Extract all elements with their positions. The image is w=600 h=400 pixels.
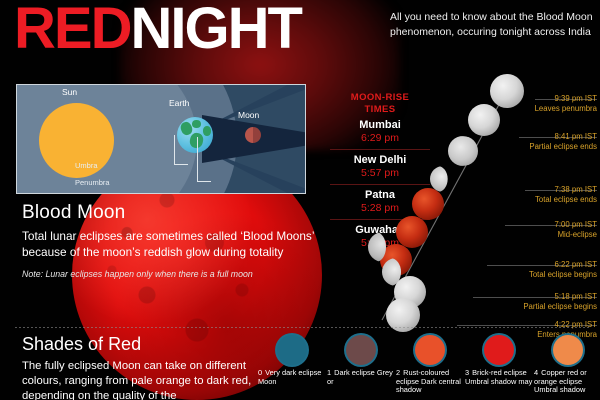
shade-moon-icon — [277, 335, 307, 365]
timeline-event: 8:41 pm ISTPartial eclipse ends — [437, 132, 597, 152]
subtitle: All you need to know about the Blood Moo… — [390, 10, 595, 39]
timeline-event-desc: Partial eclipse begins — [437, 302, 597, 312]
blood-moon-note: Note: Lunar eclipses happen only when th… — [22, 269, 322, 279]
timeline-event: 7:38 pm ISTTotal eclipse ends — [437, 185, 597, 205]
header: REDNIGHT All you need to know about the … — [0, 0, 600, 62]
blood-moon-body: Total lunar eclipses are sometimes calle… — [22, 229, 322, 260]
shades-body: The fully eclipsed Moon can take on diff… — [22, 359, 272, 400]
timeline-event: 9:39 pm ISTLeaves penumbra — [437, 94, 597, 114]
penumbra-leader-line — [197, 137, 211, 182]
penumbra-label: Penumbra — [75, 178, 110, 187]
timeline-event: 7:00 pm ISTMid-eclipse — [437, 220, 597, 240]
shade-text: Rust-coloured eclipse Dark central shado… — [396, 368, 461, 394]
shades-swatch-row: 0Very dark eclipse Moon1Dark eclipse Gre… — [258, 335, 600, 400]
shade-caption: 4Copper red or orange eclipse Umbral sha… — [534, 369, 600, 395]
section-divider — [14, 327, 589, 328]
timeline-event-time: 7:00 pm IST — [437, 220, 597, 230]
shades-heading: Shades of Red — [22, 334, 272, 355]
timeline-event-time: 7:38 pm IST — [437, 185, 597, 195]
timeline-event-desc: Partial eclipse ends — [437, 142, 597, 152]
eclipse-progression-timeline: 9:39 pm ISTLeaves penumbra8:41 pm ISTPar… — [360, 80, 600, 330]
eclipse-phase-moon — [396, 216, 428, 248]
shades-of-red-section: Shades of Red The fully eclipsed Moon ca… — [22, 334, 272, 400]
shade-text: Dark eclipse Grey or — [327, 368, 393, 386]
blood-moon-section: Blood Moon Total lunar eclipses are some… — [22, 202, 322, 279]
shade-caption: 1Dark eclipse Grey or — [327, 369, 395, 386]
shade-caption: 3Brick-red eclipse Umbral shadow may — [465, 369, 533, 386]
umbra-leader-line — [174, 135, 188, 165]
timeline-event-time: 5:18 pm IST — [437, 292, 597, 302]
shade-text: Brick-red eclipse Umbral shadow may — [465, 368, 532, 386]
title-word-night: NIGHT — [130, 0, 300, 61]
timeline-event-time: 4:22 pm IST — [437, 320, 597, 330]
shade-text: Very dark eclipse Moon — [258, 368, 321, 386]
page-title: REDNIGHT — [14, 0, 301, 60]
timeline-event: 6:22 pm ISTTotal eclipse begins — [437, 260, 597, 280]
blood-moon-heading: Blood Moon — [22, 202, 322, 224]
shade-caption: 0Very dark eclipse Moon — [258, 369, 326, 386]
earth-label: Earth — [169, 98, 189, 108]
shade-moon-icon — [553, 335, 583, 365]
timeline-event: 5:18 pm ISTPartial eclipse begins — [437, 292, 597, 312]
shade-swatch: 4Copper red or orange eclipse Umbral sha… — [534, 335, 600, 395]
title-word-red: RED — [14, 0, 130, 61]
infographic-canvas: REDNIGHT All you need to know about the … — [0, 0, 600, 400]
shade-moon-icon — [415, 335, 445, 365]
sun-label: Sun — [62, 87, 77, 97]
shade-swatch: 2Rust-coloured eclipse Dark central shad… — [396, 335, 464, 395]
moon-label: Moon — [238, 110, 259, 120]
shade-swatch: 1Dark eclipse Grey or — [327, 335, 395, 386]
timeline-event-time: 9:39 pm IST — [437, 94, 597, 104]
shade-swatch: 3Brick-red eclipse Umbral shadow may — [465, 335, 533, 386]
timeline-event-desc: Mid-eclipse — [437, 230, 597, 240]
timeline-event-desc: Total eclipse begins — [437, 270, 597, 280]
shade-moon-icon — [346, 335, 376, 365]
shade-swatch: 0Very dark eclipse Moon — [258, 335, 326, 386]
timeline-event-time: 8:41 pm IST — [437, 132, 597, 142]
moon-icon — [245, 127, 261, 143]
shade-caption: 2Rust-coloured eclipse Dark central shad… — [396, 369, 464, 395]
timeline-event-desc: Total eclipse ends — [437, 195, 597, 205]
timeline-event-time: 6:22 pm IST — [437, 260, 597, 270]
shade-text: Copper red or orange eclipse Umbral shad… — [534, 368, 587, 394]
timeline-event-desc: Leaves penumbra — [437, 104, 597, 114]
shade-moon-icon — [484, 335, 514, 365]
eclipse-diagram-panel: Sun Earth Moon Umbra Penumbra — [16, 84, 306, 194]
umbra-label: Umbra — [75, 161, 98, 170]
